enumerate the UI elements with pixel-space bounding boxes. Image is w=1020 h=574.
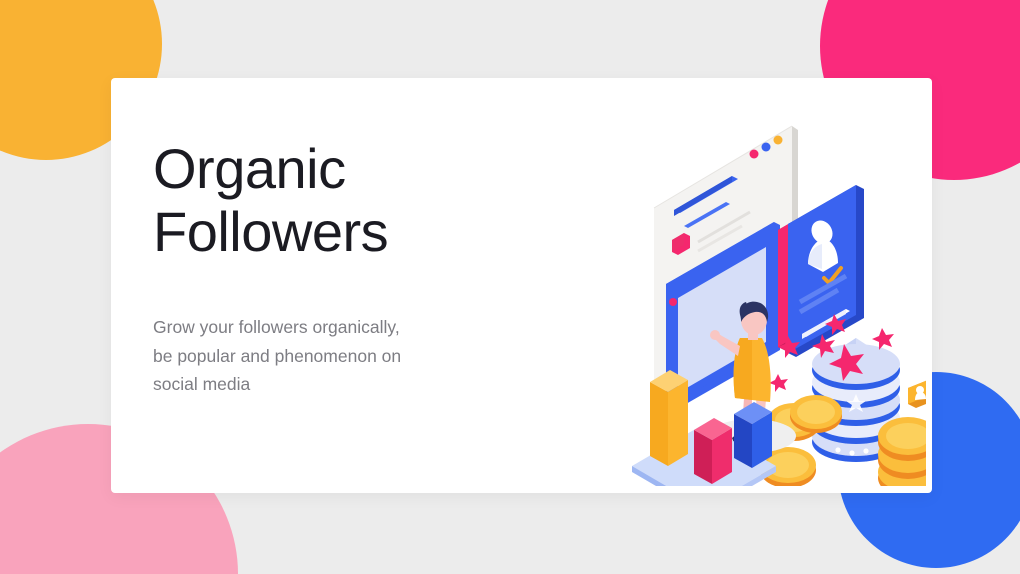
content-card: Organic Followers Grow your followers or… — [111, 78, 932, 493]
isometric-social-growth-illustration — [526, 106, 926, 486]
follow-badge-icon — [908, 368, 926, 408]
page-title: Organic Followers — [153, 138, 503, 263]
bar-orange-icon — [650, 370, 688, 466]
browser-window-icon — [654, 126, 798, 412]
profile-card-icon — [788, 185, 864, 357]
browser-dot-pink-icon — [750, 150, 759, 159]
page-subtitle: Grow your followers organically, be popu… — [153, 263, 503, 398]
gold-coins-right-icon — [878, 417, 926, 486]
browser-dot-blue-icon — [762, 143, 771, 152]
bar-pink-icon — [694, 418, 732, 484]
text-block: Organic Followers Grow your followers or… — [153, 138, 503, 398]
browser-dot-yellow-icon — [774, 136, 783, 145]
bar-blue-icon — [734, 402, 772, 468]
slide-canvas: Organic Followers Grow your followers or… — [0, 0, 1020, 574]
